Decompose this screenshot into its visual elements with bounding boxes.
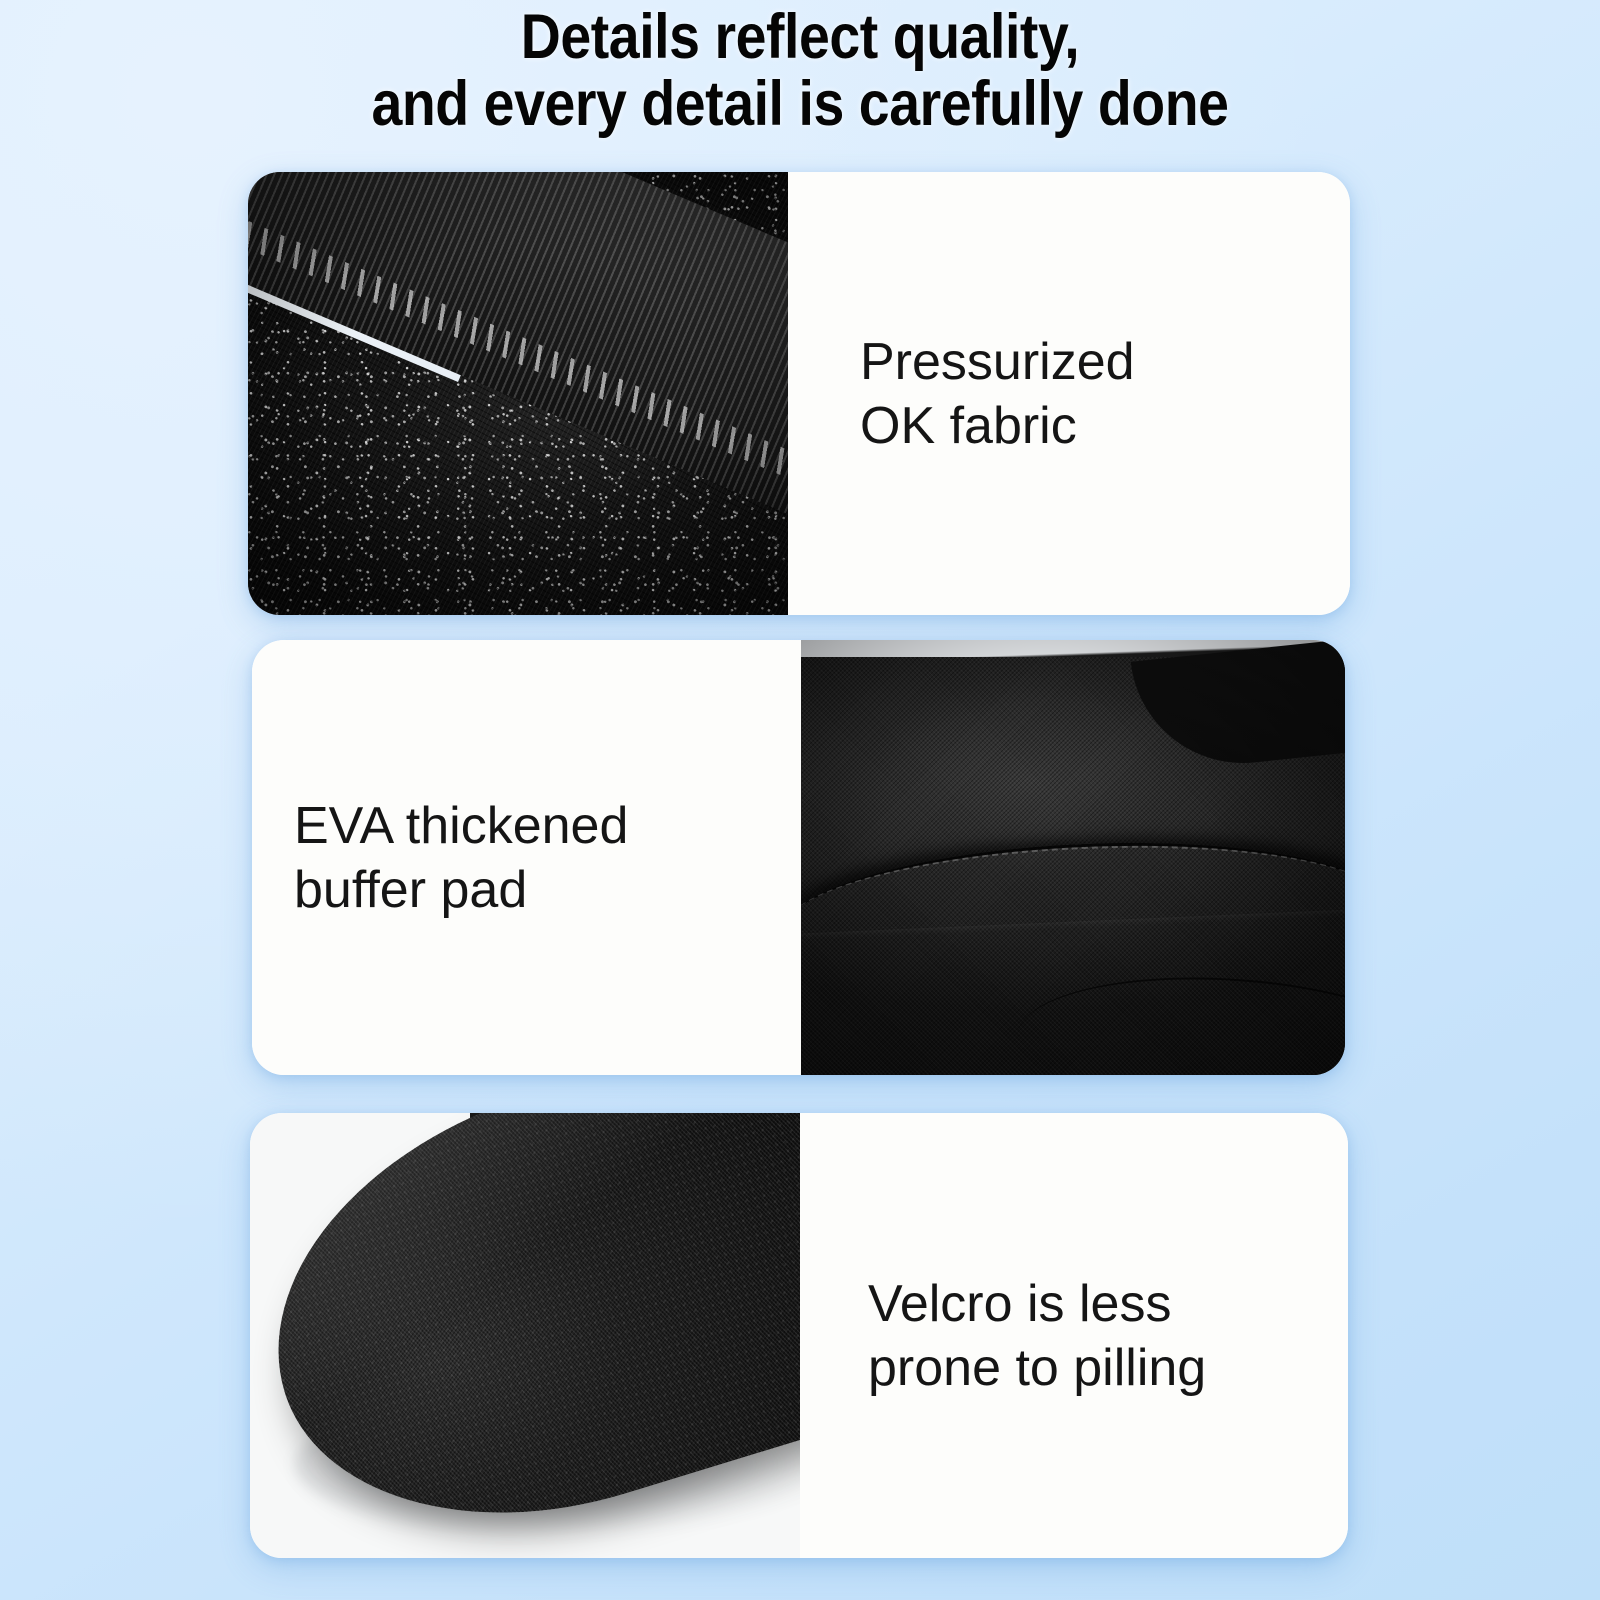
photo-vignette bbox=[801, 640, 1345, 1075]
feature-text-pane-2: EVA thickened buffer pad bbox=[252, 640, 801, 1075]
feature-text-pane-3: Velcro is less prone to pilling bbox=[800, 1113, 1348, 1558]
product-photo-velcro-less-pilling bbox=[250, 1113, 800, 1558]
feature-card-velcro-less-pilling: Velcro is less prone to pilling bbox=[250, 1113, 1348, 1558]
title-line-2: and every detail is carefully done bbox=[96, 71, 1504, 138]
feature-card-pressurized-ok-fabric: Pressurized OK fabric bbox=[248, 172, 1350, 615]
feature-text-pane-1: Pressurized OK fabric bbox=[788, 172, 1350, 615]
infographic-canvas: Details reflect quality, and every detai… bbox=[0, 0, 1600, 1600]
product-photo-pressurized-ok-fabric bbox=[248, 172, 788, 615]
feature-label-eva-thickened-buffer-pad: EVA thickened buffer pad bbox=[294, 794, 628, 922]
page-title: Details reflect quality, and every detai… bbox=[96, 4, 1504, 138]
photo-vignette bbox=[248, 172, 788, 615]
feature-card-eva-thickened-buffer-pad: EVA thickened buffer pad bbox=[252, 640, 1345, 1075]
title-line-1: Details reflect quality, bbox=[96, 4, 1504, 71]
feature-label-velcro-less-pilling: Velcro is less prone to pilling bbox=[868, 1272, 1206, 1400]
feature-label-pressurized-ok-fabric: Pressurized OK fabric bbox=[860, 330, 1135, 458]
product-photo-eva-thickened-buffer-pad bbox=[801, 640, 1345, 1075]
